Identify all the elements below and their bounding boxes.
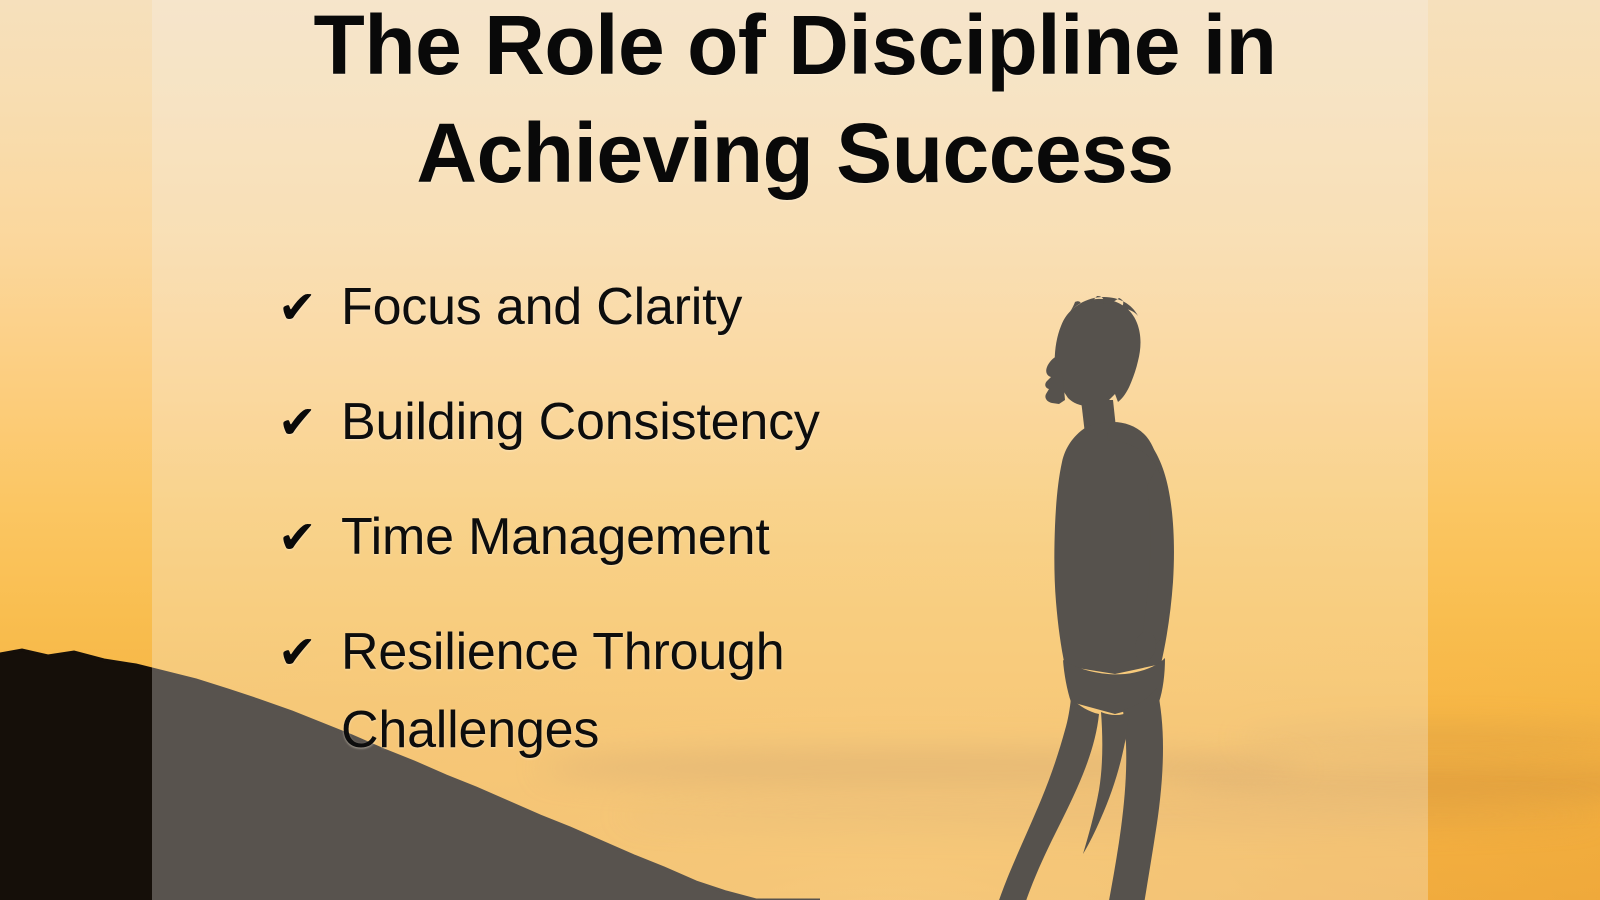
list-item-label: Resilience Through Challenges — [341, 613, 978, 769]
list-item-label: Focus and Clarity — [341, 268, 978, 346]
list-item: ✔ Building Consistency — [278, 383, 978, 461]
slide-canvas: The Role of Discipline in Achieving Succ… — [0, 0, 1600, 900]
benefits-list: ✔ Focus and Clarity ✔ Building Consisten… — [278, 268, 978, 769]
list-item-label: Time Management — [341, 498, 978, 576]
check-icon: ✔ — [278, 613, 341, 691]
list-item: ✔ Focus and Clarity — [278, 268, 978, 346]
check-icon: ✔ — [278, 383, 341, 461]
list-item: ✔ Resilience Through Challenges — [278, 613, 978, 769]
list-item: ✔ Time Management — [278, 498, 978, 576]
check-icon: ✔ — [278, 498, 341, 576]
page-title: The Role of Discipline in Achieving Succ… — [180, 0, 1410, 207]
slide-content: The Role of Discipline in Achieving Succ… — [0, 0, 1600, 900]
check-icon: ✔ — [278, 268, 341, 346]
list-item-label: Building Consistency — [341, 383, 978, 461]
